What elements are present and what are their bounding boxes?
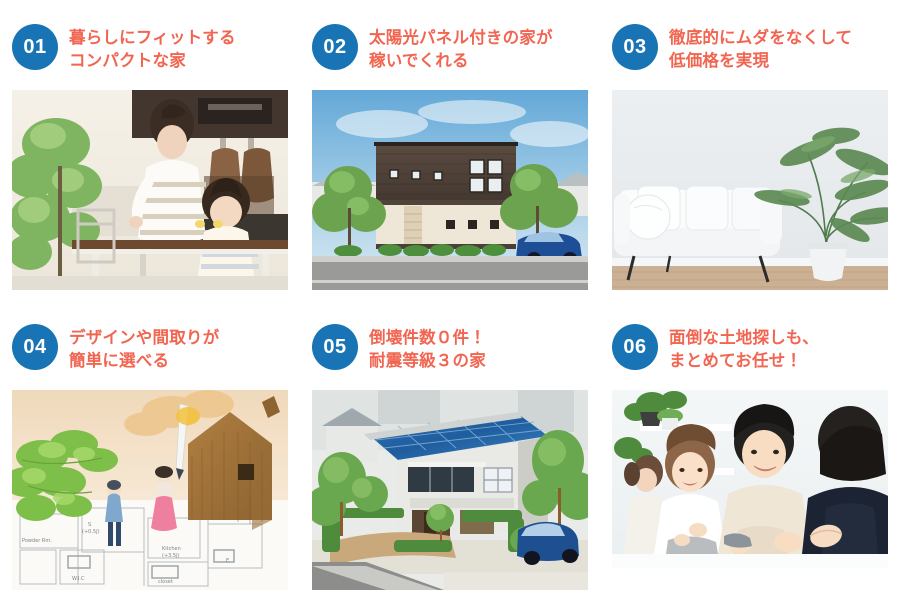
card-header: 04 デザインや間取りが 簡単に選べる — [12, 324, 288, 382]
feature-title: デザインや間取りが 簡単に選べる — [69, 324, 219, 373]
feature-card-01[interactable]: 01 暮らしにフィットする コンパクトな家 — [0, 0, 300, 300]
feature-title: 倒壊件数０件！ 耐震等級３の家 — [369, 324, 486, 373]
white-sofa-living-room-photo — [612, 90, 888, 290]
kitchen-mother-and-child-photo — [12, 90, 288, 290]
svg-text:W.I.C: W.I.C — [72, 576, 85, 582]
svg-text:(+3.5J): (+3.5J) — [162, 553, 180, 559]
svg-text:(+0.5J): (+0.5J) — [82, 529, 100, 535]
number-badge: 05 — [312, 324, 358, 370]
feature-title: 徹底的にムダをなくして 低価格を実現 — [669, 24, 852, 73]
feature-card-04[interactable]: 04 デザインや間取りが 簡単に選べる — [0, 300, 300, 600]
svg-text:E: E — [226, 558, 229, 564]
card-header: 02 太陽光パネル付きの家が 稼いでくれる — [312, 24, 588, 82]
card-header: 03 徹底的にムダをなくして 低価格を実現 — [612, 24, 888, 82]
number-badge: 01 — [12, 24, 58, 70]
card-header: 06 面倒な土地探しも、 まとめてお任せ！ — [612, 324, 888, 382]
modern-two-story-house-exterior-photo — [312, 90, 588, 290]
number-badge: 06 — [612, 324, 658, 370]
feature-card-05[interactable]: 05 倒壊件数０件！ 耐震等級３の家 — [300, 300, 600, 600]
solar-panel-house-aerial-photo — [312, 390, 588, 590]
house-model-on-floor-plan-photo: Powder Rm. W.I.C S (+0.5J) Kitchen (+3.5… — [12, 390, 288, 590]
number-badge: 02 — [312, 24, 358, 70]
feature-grid: 01 暮らしにフィットする コンパクトな家 — [0, 0, 900, 600]
svg-text:S: S — [88, 522, 91, 528]
svg-text:Kitchen: Kitchen — [162, 546, 181, 552]
svg-text:closet: closet — [158, 579, 173, 585]
family-consultation-photo — [612, 390, 888, 590]
feature-card-03[interactable]: 03 徹底的にムダをなくして 低価格を実現 — [600, 0, 900, 300]
number-badge: 04 — [12, 324, 58, 370]
feature-title: 面倒な土地探しも、 まとめてお任せ！ — [669, 324, 819, 373]
feature-card-02[interactable]: 02 太陽光パネル付きの家が 稼いでくれる — [300, 0, 600, 300]
number-badge: 03 — [612, 24, 658, 70]
feature-card-06[interactable]: 06 面倒な土地探しも、 まとめてお任せ！ — [600, 300, 900, 600]
card-header: 01 暮らしにフィットする コンパクトな家 — [12, 24, 288, 82]
card-header: 05 倒壊件数０件！ 耐震等級３の家 — [312, 324, 588, 382]
feature-title: 太陽光パネル付きの家が 稼いでくれる — [369, 24, 553, 73]
svg-text:Powder Rm.: Powder Rm. — [22, 538, 52, 544]
feature-title: 暮らしにフィットする コンパクトな家 — [69, 24, 236, 73]
